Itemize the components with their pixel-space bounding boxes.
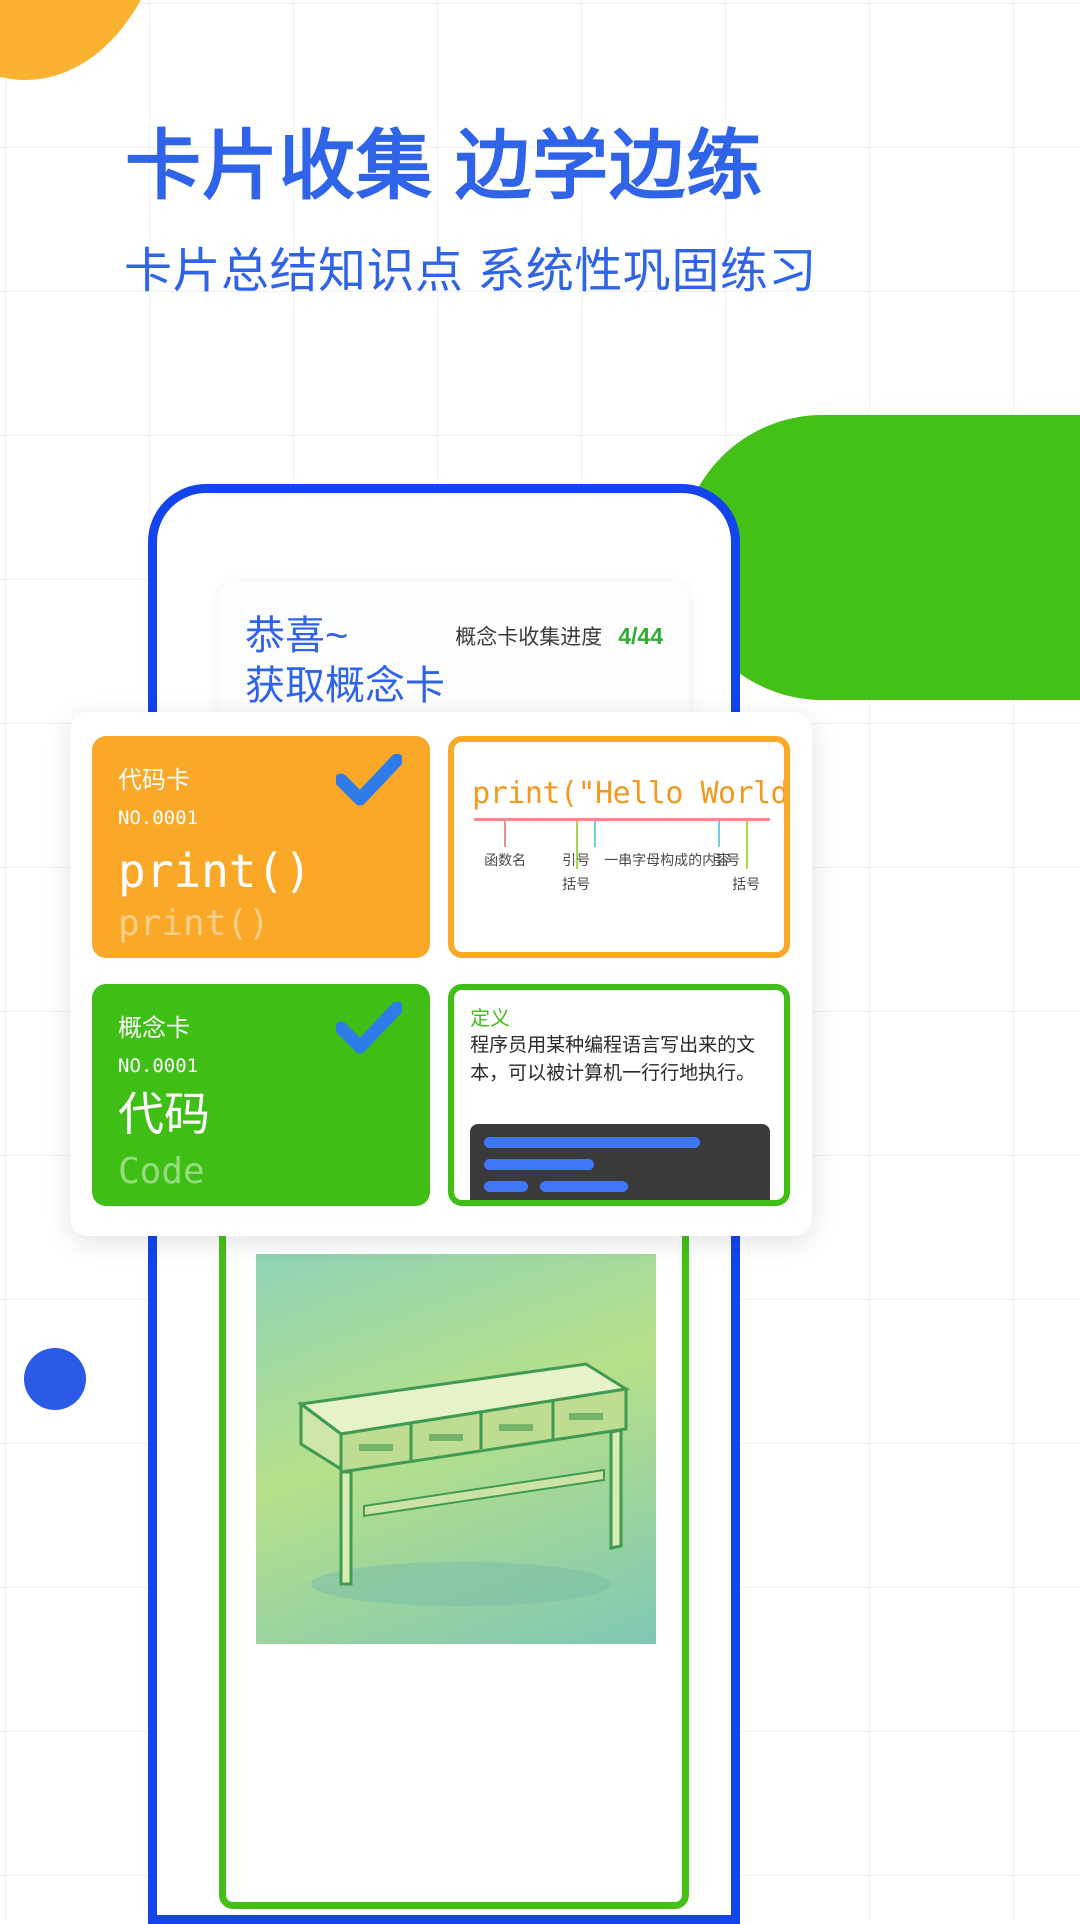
collection-progress: 概念卡收集进度 4/44 [455, 611, 663, 651]
tick-close-quote [718, 821, 720, 847]
congrats-line-1: 恭喜~ [245, 611, 445, 661]
sheet-header: 恭喜~ 获取概念卡 概念卡收集进度 4/44 [245, 611, 663, 711]
card-term-shadow: print() [118, 903, 270, 944]
code-bar [484, 1159, 594, 1170]
card-term: 代码 [118, 1078, 210, 1144]
blue-dot-decoration [24, 1348, 86, 1410]
check-icon [336, 1002, 402, 1059]
concept-card-detail[interactable]: 定义 程序员用某种编程语言写出来的文本，可以被计算机一行行地执行。 [448, 984, 790, 1206]
code-bar-row [484, 1159, 756, 1170]
code-underline [474, 818, 770, 821]
desk-illustration [256, 1254, 656, 1644]
tick-open-quote [594, 821, 596, 847]
desk-illustration-frame [219, 1219, 689, 1909]
annotation-close-quote: 引号 [702, 850, 750, 870]
annotation-open-paren: 括号 [552, 874, 600, 894]
code-card-detail[interactable]: print("Hello World") 函数名 引号 一串字母构成的内容 引号… [448, 736, 790, 958]
progress-value: 4/44 [618, 623, 663, 650]
card-row: 代码卡 NO.0001 print() print() print("Hello… [92, 736, 790, 958]
green-blob-decoration [680, 415, 1080, 700]
card-term: print() [118, 844, 312, 898]
code-sample-text: print("Hello World") [472, 776, 790, 811]
concept-card-front[interactable]: 概念卡 NO.0001 代码 Code [92, 984, 430, 1206]
card-collection-panel: 代码卡 NO.0001 print() print() print("Hello… [70, 712, 812, 1236]
congrats-text-block: 恭喜~ 获取概念卡 [245, 611, 445, 711]
page-subtitle: 卡片总结知识点 系统性巩固练习 [124, 231, 817, 301]
code-card-front[interactable]: 代码卡 NO.0001 print() print() [92, 736, 430, 958]
definition-title: 定义 [470, 1002, 510, 1031]
code-bar-row [484, 1181, 756, 1192]
code-preview-block [470, 1124, 770, 1206]
card-term-shadow: Code [118, 1151, 205, 1192]
desk-drawing [256, 1254, 656, 1644]
code-bar [484, 1181, 528, 1192]
tick-function-name [504, 821, 506, 847]
page-title: 卡片收集 边学边练 [125, 104, 763, 214]
code-bar-row [484, 1137, 756, 1148]
annotation-open-quote: 引号 [552, 850, 600, 870]
progress-label: 概念卡收集进度 [455, 621, 602, 651]
check-icon [336, 754, 402, 811]
definition-body: 程序员用某种编程语言写出来的文本，可以被计算机一行行地执行。 [470, 1032, 770, 1087]
annotation-close-paren: 括号 [722, 874, 770, 894]
code-bar [484, 1137, 700, 1148]
congrats-line-2: 获取概念卡 [245, 661, 445, 711]
annotation-function-name: 函数名 [470, 850, 540, 870]
code-bar [540, 1181, 628, 1192]
card-row: 概念卡 NO.0001 代码 Code 定义 程序员用某种编程语言写出来的文本，… [92, 984, 790, 1206]
